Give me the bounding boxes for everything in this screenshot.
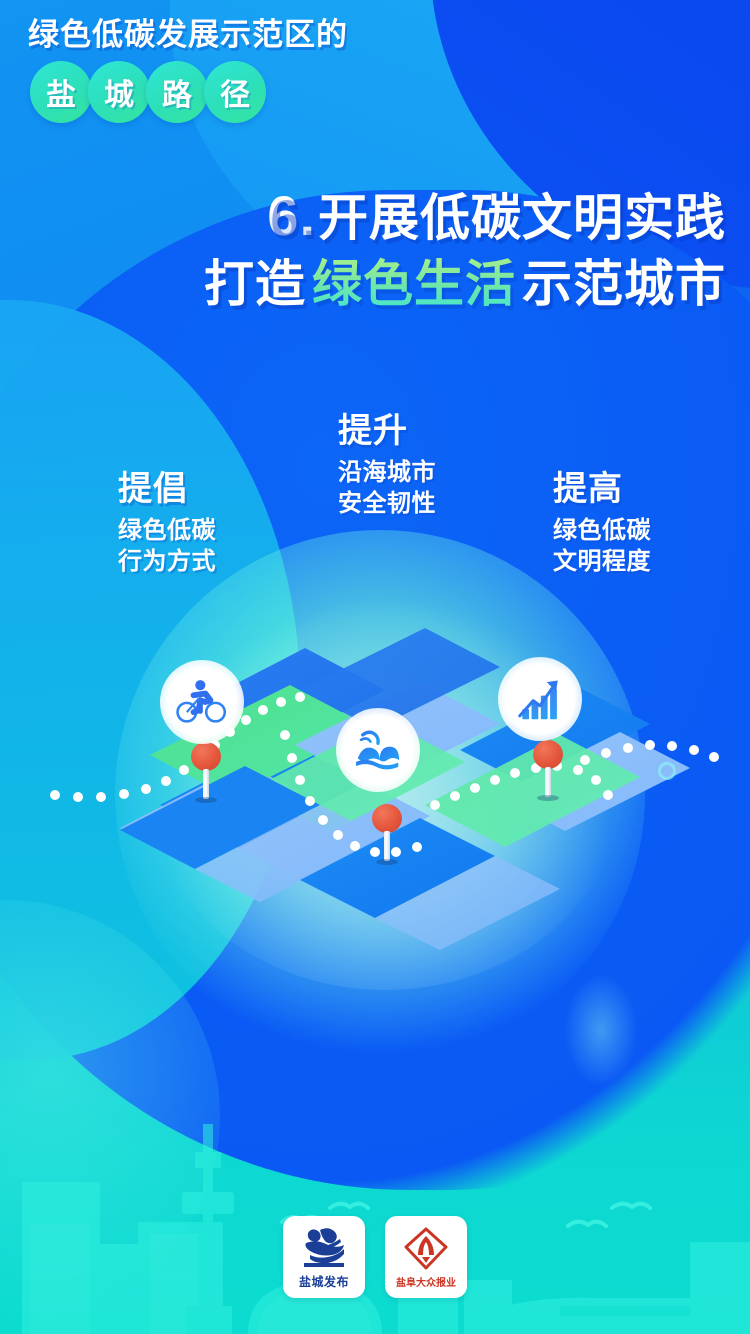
title-highlight: 绿色生活: [306, 256, 522, 312]
pin-shadow: [376, 859, 398, 865]
phoenix-emblem-icon: [298, 1225, 350, 1271]
feature-sub: 绿色低碳 行为方式: [118, 516, 216, 577]
title-number: 6.: [267, 184, 316, 247]
map-pin-3: [530, 740, 566, 801]
badge-label: 盐: [46, 70, 76, 114]
main-title: 6.开展低碳文明实践 打造绿色生活示范城市: [204, 182, 726, 316]
badge-group: 盐 城 路 径: [30, 61, 348, 123]
title-line-2: 打造绿色生活示范城市: [204, 253, 726, 316]
badge-label: 路: [162, 70, 192, 114]
feature-head: 提倡: [118, 470, 216, 509]
feature-sub-line-2: 文明程度: [553, 547, 651, 578]
bicycle-icon-bubble: [160, 660, 244, 744]
pin-head: [191, 742, 221, 771]
map-pin-2: [369, 804, 405, 865]
badge-char-3: 路: [146, 61, 208, 123]
badge-char-4: 径: [204, 61, 266, 123]
decorative-ring-icon: [658, 762, 676, 780]
feature-sub-line-2: 行为方式: [118, 547, 216, 578]
pin-stem: [384, 831, 390, 861]
title-line-2-after: 示范城市: [522, 256, 726, 312]
wave-icon-bubble: [336, 708, 420, 792]
growth-chart-icon-bubble: [498, 657, 582, 741]
feature-sub-line-1: 绿色低碳: [118, 516, 216, 547]
map-pin-1: [188, 742, 224, 803]
logo-caption: 盐阜大众报业: [396, 1274, 456, 1289]
pin-shadow: [195, 797, 217, 803]
title-line-1-text: 开展低碳文明实践: [318, 190, 726, 246]
pin-stem: [545, 767, 551, 797]
feature-advocate: 提倡 绿色低碳 行为方式: [118, 470, 216, 578]
pin-stem: [203, 769, 209, 799]
diamond-emblem-icon: [401, 1226, 451, 1272]
logo-caption: 盐城发布: [299, 1273, 349, 1290]
yanfu-media-logo[interactable]: 盐阜大众报业: [385, 1216, 467, 1298]
kicker-text: 绿色低碳发展示范区的: [28, 18, 348, 52]
pin-shadow: [537, 795, 559, 801]
poster-root: 绿色低碳发展示范区的 盐 城 路 径 6.开展低碳文明实践 打造绿色生活示范城市…: [0, 0, 750, 1334]
title-line-2-before: 打造: [204, 256, 306, 312]
header: 绿色低碳发展示范区的 盐 城 路 径: [28, 18, 348, 123]
wave-icon: [351, 723, 405, 777]
feature-sub-line-1: 绿色低碳: [553, 516, 651, 547]
feature-sub: 绿色低碳 文明程度: [553, 516, 651, 577]
badge-char-2: 城: [88, 61, 150, 123]
pin-head: [372, 804, 402, 833]
feature-enhance: 提升 沿海城市 安全韧性: [338, 412, 436, 520]
growth-chart-icon: [513, 672, 567, 726]
pin-head: [533, 740, 563, 769]
badge-label: 径: [220, 70, 250, 114]
logo-row: 盐城发布 盐阜大众报业: [0, 1216, 750, 1298]
feature-sub: 沿海城市 安全韧性: [338, 458, 436, 519]
feature-head: 提高: [553, 470, 651, 509]
yancheng-release-logo[interactable]: 盐城发布: [283, 1216, 365, 1298]
feature-head: 提升: [338, 412, 436, 451]
badge-char-1: 盐: [30, 61, 92, 123]
badge-label: 城: [104, 70, 134, 114]
feature-sub-line-1: 沿海城市: [338, 458, 436, 489]
feature-improve: 提高 绿色低碳 文明程度: [553, 470, 651, 578]
title-line-1: 6.开展低碳文明实践: [204, 182, 726, 249]
feature-sub-line-2: 安全韧性: [338, 489, 436, 520]
bicycle-icon: [175, 675, 229, 729]
